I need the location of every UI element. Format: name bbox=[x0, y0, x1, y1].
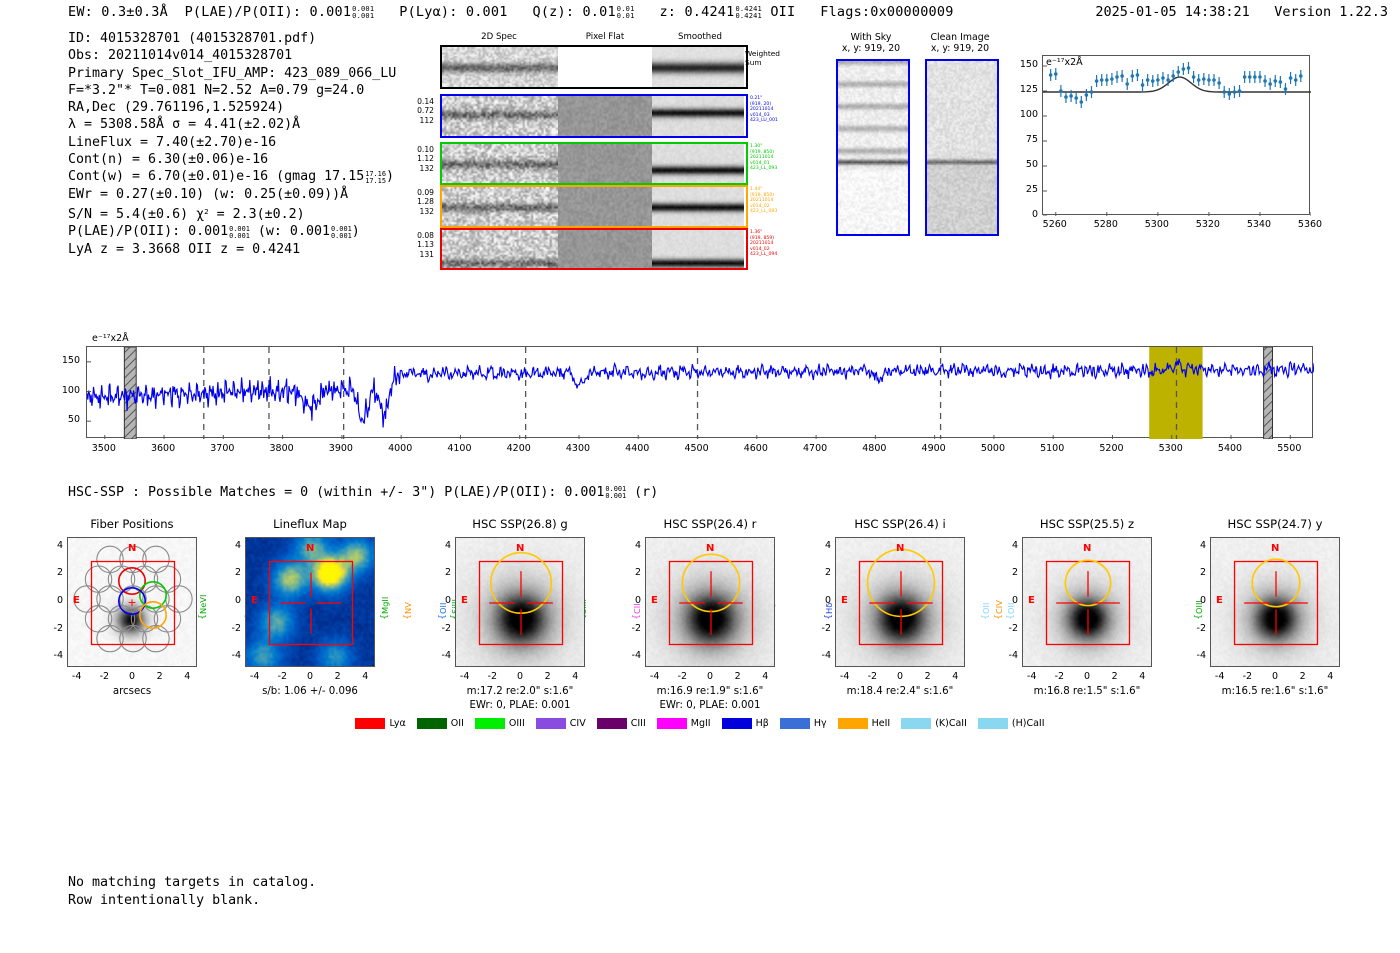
fiber-annotation: 1.30"(919, 850)20211014v014_01423_LL_093 bbox=[750, 144, 804, 172]
legend-swatch bbox=[475, 718, 505, 729]
spec2d-col-2dspec: 2D Spec bbox=[440, 32, 558, 42]
panel-xlabel: m:16.9 re:1.9" s:1.6" bbox=[610, 686, 810, 697]
panel-image-hsc-i[interactable] bbox=[835, 537, 965, 667]
fiber-2dspec bbox=[442, 187, 558, 226]
fiber-metric-value: 0.72 bbox=[404, 106, 434, 115]
fiber-smoothed bbox=[652, 144, 744, 183]
fullspec-xtick: 4800 bbox=[852, 443, 896, 454]
panel-xtick: 0 bbox=[696, 671, 724, 682]
fiber-metric-value: 0.14 bbox=[404, 97, 434, 106]
zoomspec-flux-unit: e⁻¹⁷x2Å bbox=[1046, 57, 1083, 68]
fiber-metrics: 0.140.72112 bbox=[404, 97, 434, 125]
zoomspec-ytick: 100 bbox=[1010, 109, 1038, 120]
panel-ytick: 4 bbox=[431, 540, 451, 551]
panel-xlabel: m:16.5 re:1.6" s:1.6" bbox=[1175, 686, 1375, 697]
panel-ytick: -4 bbox=[221, 650, 241, 661]
emission-line-label: NeVI bbox=[198, 576, 208, 614]
fiber-metric-value: 0.09 bbox=[404, 188, 434, 197]
compass-east: E bbox=[1216, 595, 1223, 606]
param-sn-text: S/N = 5.4(±0.6) χ bbox=[68, 207, 204, 222]
emission-line-label: OII bbox=[981, 576, 991, 614]
compass-north: N bbox=[896, 543, 904, 554]
zoomspec-xtick: 5300 bbox=[1141, 219, 1173, 230]
panel-ytick: 2 bbox=[998, 567, 1018, 578]
panel-ytick: -2 bbox=[221, 623, 241, 634]
panel-xtick: -4 bbox=[1206, 671, 1234, 682]
param-plae-range: 0.0010.001 bbox=[229, 226, 250, 240]
panel-xtick: 0 bbox=[506, 671, 534, 682]
header-z-range: 0.42410.4241 bbox=[735, 5, 762, 19]
fiber-metric-value: 1.28 bbox=[404, 197, 434, 206]
legend-label: Hβ bbox=[756, 718, 769, 729]
spec2d-fiber-row[interactable] bbox=[440, 185, 748, 228]
fiber-pixelflat bbox=[558, 230, 652, 268]
panel-xtick: -4 bbox=[831, 671, 859, 682]
panel-ytick: 0 bbox=[811, 595, 831, 606]
fiber-annotation: 0.21"(919, 20)20211014v014_03423_LU_001 bbox=[750, 96, 804, 124]
fullspec-xtick: 3500 bbox=[82, 443, 126, 454]
panel-xtick: 4 bbox=[941, 671, 969, 682]
panel-title: HSC SSP(26.8) g bbox=[420, 517, 620, 531]
legend-label: Lyα bbox=[389, 718, 405, 729]
panel-xtick: 2 bbox=[324, 671, 352, 682]
panel-xtick: 4 bbox=[751, 671, 779, 682]
header-z-label: z: bbox=[659, 4, 676, 20]
cutout-image[interactable] bbox=[925, 59, 999, 236]
panel-ytick: 0 bbox=[621, 595, 641, 606]
zoomspec-xtick: 5280 bbox=[1090, 219, 1122, 230]
header-timestamp-version: 2025-01-05 14:38:21 Version 1.22.3 bbox=[1095, 4, 1388, 20]
param-redshifts: LyA z = 3.3668 OII z = 0.4241 bbox=[68, 241, 396, 258]
panel-xtick: 2 bbox=[1289, 671, 1317, 682]
panel-xtick: -2 bbox=[90, 671, 118, 682]
param-sn-chi2: S/N = 5.4(±0.6) χ2 = 2.3(±0.2) bbox=[68, 203, 396, 223]
fiber-metric-value: 0.10 bbox=[404, 145, 434, 154]
legend-swatch bbox=[536, 718, 566, 729]
fiber-metrics: 0.101.12132 bbox=[404, 145, 434, 173]
panel-xtick: 2 bbox=[1101, 671, 1129, 682]
panel-sublabel: EWr: 0, PLAE: 0.001 bbox=[420, 700, 620, 711]
emission-line-brace: { bbox=[632, 614, 642, 620]
fiber-metrics: 0.081.13131 bbox=[404, 231, 434, 259]
zoomspec-ytick: 0 bbox=[1010, 209, 1038, 220]
timestamp: 2025-01-05 14:38:21 bbox=[1095, 4, 1249, 20]
fullspec-xtick: 4200 bbox=[497, 443, 541, 454]
fullspec-xtick: 3800 bbox=[260, 443, 304, 454]
legend-item: Hγ bbox=[780, 718, 827, 729]
panel-title: HSC SSP(24.7) y bbox=[1175, 517, 1375, 531]
fiber-annotation: 1.36"(919, 859)20211014v014_02423_LL_094 bbox=[750, 230, 804, 258]
panel-xtick: 0 bbox=[118, 671, 146, 682]
panel-ytick: 4 bbox=[811, 540, 831, 551]
weighted-sum-line2: Sum bbox=[745, 58, 801, 67]
panel-ytick: 0 bbox=[431, 595, 451, 606]
panel-xlabel: m:16.8 re:1.5" s:1.6" bbox=[987, 686, 1187, 697]
compass-north: N bbox=[1271, 543, 1279, 554]
fullspec-xtick: 4000 bbox=[378, 443, 422, 454]
zoomspec-xtick: 5340 bbox=[1243, 219, 1275, 230]
svg-text:+: + bbox=[127, 596, 136, 609]
legend-item: Lyα bbox=[355, 718, 405, 729]
header-z-species: OII bbox=[770, 4, 795, 20]
legend-swatch bbox=[657, 718, 687, 729]
zoomspec-ytick: 125 bbox=[1010, 84, 1038, 95]
footer-line-1: No matching targets in catalog. bbox=[68, 874, 316, 892]
weighted-sum-smoothed bbox=[652, 47, 744, 87]
spec2d-mosaic: 2D Spec Pixel Flat Smoothed Weighted Sum… bbox=[440, 32, 800, 252]
fullspec-ytick: 50 bbox=[48, 414, 80, 425]
panel-xtick: 2 bbox=[146, 671, 174, 682]
param-lambda-sigma: λ = 5308.58Å σ = 4.41(±2.02)Å bbox=[68, 116, 396, 133]
fullspec-xtick: 4500 bbox=[675, 443, 719, 454]
fiber-metric-value: 131 bbox=[404, 250, 434, 259]
header-ew: EW: 0.3±0.3Å bbox=[68, 4, 168, 20]
panel-xlabel: s/b: 1.06 +/- 0.096 bbox=[210, 686, 410, 697]
panel-ytick: -4 bbox=[621, 650, 641, 661]
zoomspec-xtick: 5260 bbox=[1039, 219, 1071, 230]
panel-ytick: 2 bbox=[221, 567, 241, 578]
fullspec-ytick: 100 bbox=[48, 385, 80, 396]
fiber-smoothed bbox=[652, 187, 744, 226]
panel-ytick: -2 bbox=[811, 623, 831, 634]
param-continuum-wide-text: Cont(w) = 6.70(±0.01)e-16 (gmag 17.15 bbox=[68, 169, 364, 184]
compass-north: N bbox=[516, 543, 524, 554]
zoomspec-ytick: 25 bbox=[1010, 184, 1038, 195]
header-qz-label: Q(z): bbox=[533, 4, 575, 20]
fiber-pixelflat bbox=[558, 144, 652, 183]
panel-ytick: 2 bbox=[431, 567, 451, 578]
legend-swatch bbox=[901, 718, 931, 729]
panel-ytick: 0 bbox=[43, 595, 63, 606]
legend-label: OIII bbox=[509, 718, 525, 729]
weighted-sum-2dspec bbox=[442, 47, 558, 87]
zoomspec-ytick: 150 bbox=[1010, 59, 1038, 70]
legend-item: (K)CaII bbox=[901, 718, 967, 729]
fullspec-xtick: 4900 bbox=[912, 443, 956, 454]
param-plae-wide-range: 0.0010.001 bbox=[331, 226, 352, 240]
parameter-block: ID: 4015328701 (4015328701.pdf) Obs: 202… bbox=[68, 30, 396, 258]
panel-image-hsc-z[interactable] bbox=[1022, 537, 1152, 667]
hsc-summary-filter: (r) bbox=[626, 485, 658, 500]
spec2d-fiber-row[interactable] bbox=[440, 228, 748, 270]
zoomspec-ytick: 50 bbox=[1010, 159, 1038, 170]
panel-ytick: -4 bbox=[1186, 650, 1206, 661]
panel-xtick: 0 bbox=[886, 671, 914, 682]
cutout-image[interactable] bbox=[836, 59, 910, 236]
param-seeing: F=*3.2"* T=0.081 N=2.52 A=0.79 g=24.0 bbox=[68, 82, 396, 99]
panel-xtick: -2 bbox=[858, 671, 886, 682]
panel-ytick: -2 bbox=[431, 623, 451, 634]
header-qz-range: 0.010.01 bbox=[617, 5, 635, 19]
legend-swatch bbox=[780, 718, 810, 729]
legend-item: MgII bbox=[657, 718, 711, 729]
panel-ytick: 0 bbox=[221, 595, 241, 606]
fiber-metrics: 0.091.28132 bbox=[404, 188, 434, 216]
fiber-metric-value: 0.08 bbox=[404, 231, 434, 240]
compass-east: E bbox=[651, 595, 658, 606]
panel-xtick: -4 bbox=[1018, 671, 1046, 682]
param-plae-text: P(LAE)/P(OII): 0.001 bbox=[68, 224, 228, 239]
header-plae-value: 0.001 bbox=[310, 4, 352, 20]
panel-ytick: 2 bbox=[43, 567, 63, 578]
panel-xtick: 2 bbox=[724, 671, 752, 682]
emission-line-label: NV bbox=[403, 576, 413, 614]
panel-title: Lineflux Map bbox=[210, 517, 410, 531]
header-summary: EW: 0.3±0.3Å P(LAE)/P(OII): 0.0010.0010.… bbox=[68, 4, 954, 20]
panel-ytick: -4 bbox=[998, 650, 1018, 661]
fiber-annotation: 1.44"(919, 850)20211014v014_02423_LL_093 bbox=[750, 187, 804, 215]
panel-ytick: 2 bbox=[1186, 567, 1206, 578]
fiber-smoothed bbox=[652, 230, 744, 268]
param-id: ID: 4015328701 (4015328701.pdf) bbox=[68, 30, 396, 47]
emission-line-brace: { bbox=[198, 614, 208, 620]
param-continuum-wide: Cont(w) = 6.70(±0.01)e-16 (gmag 17.1517.… bbox=[68, 168, 396, 185]
panel-xtick: 4 bbox=[561, 671, 589, 682]
cutout-title: Clean Imagex, y: 919, 20 bbox=[895, 32, 1025, 54]
panel-xtick: -4 bbox=[63, 671, 91, 682]
panel-xtick: -4 bbox=[641, 671, 669, 682]
zoomspec-ytick: 75 bbox=[1010, 134, 1038, 145]
emission-line-label: MgII bbox=[380, 576, 390, 614]
legend-label: OII bbox=[451, 718, 464, 729]
fiber-2dspec bbox=[442, 230, 558, 268]
header-qz-value: 0.01 bbox=[582, 4, 615, 20]
fiber-annotation-line: 423_LU_001 bbox=[750, 118, 804, 124]
footer-note: No matching targets in catalog. Row inte… bbox=[68, 874, 316, 910]
header-plae-label: P(LAE)/P(OII): bbox=[185, 4, 302, 20]
param-radec: RA,Dec (29.761196,1.525924) bbox=[68, 99, 396, 116]
legend-swatch bbox=[417, 718, 447, 729]
full-spectrum-panel: LyαOIIOIIICIVCIIIMgIIHβHγHeII(K)CaII(H)C… bbox=[0, 268, 1400, 473]
legend-label: HeII bbox=[872, 718, 891, 729]
emission-line-brace: { bbox=[1006, 614, 1016, 620]
full-spectrum-axes[interactable] bbox=[86, 346, 1313, 438]
panel-xtick: 0 bbox=[1261, 671, 1289, 682]
param-plae-line: P(LAE)/P(OII): 0.0010.0010.001 (w: 0.001… bbox=[68, 223, 396, 240]
panel-sublabel: EWr: 0, PLAE: 0.001 bbox=[610, 700, 810, 711]
emission-line-brace: { bbox=[1194, 614, 1204, 620]
panel-ytick: 0 bbox=[1186, 595, 1206, 606]
fullspec-xtick: 4300 bbox=[556, 443, 600, 454]
compass-east: E bbox=[1028, 595, 1035, 606]
panel-xtick: 2 bbox=[914, 671, 942, 682]
panel-title: HSC SSP(26.4) i bbox=[800, 517, 1000, 531]
header-flags: Flags:0x00000009 bbox=[820, 4, 953, 20]
panel-ytick: 0 bbox=[998, 595, 1018, 606]
panel-ytick: 4 bbox=[43, 540, 63, 551]
param-continuum-narrow: Cont(n) = 6.30(±0.06)e-16 bbox=[68, 151, 396, 168]
panel-xtick: -4 bbox=[241, 671, 269, 682]
legend-swatch bbox=[838, 718, 868, 729]
panel-xtick: 2 bbox=[534, 671, 562, 682]
legend-swatch bbox=[355, 718, 385, 729]
panel-xtick: 4 bbox=[1128, 671, 1156, 682]
panel-ytick: -2 bbox=[998, 623, 1018, 634]
compass-north: N bbox=[306, 543, 314, 554]
fiber-2dspec bbox=[442, 96, 558, 136]
legend-item: CIII bbox=[597, 718, 646, 729]
cutout-title-text: Clean Image bbox=[895, 32, 1025, 43]
compass-east: E bbox=[841, 595, 848, 606]
panel-ytick: 2 bbox=[811, 567, 831, 578]
spec2d-weighted-sum-row[interactable] bbox=[440, 45, 748, 89]
version-label: Version 1.22.3 bbox=[1274, 4, 1388, 20]
emission-line-brace: { bbox=[380, 614, 390, 620]
legend-swatch bbox=[597, 718, 627, 729]
panel-ytick: 2 bbox=[621, 567, 641, 578]
param-ewr: EWr = 0.27(±0.10) (w: 0.25(±0.09))Å bbox=[68, 186, 396, 203]
panel-xtick: 0 bbox=[296, 671, 324, 682]
legend-item: OIII bbox=[475, 718, 525, 729]
panel-xlabel: arcsecs bbox=[32, 686, 232, 697]
panel-title: HSC SSP(26.4) r bbox=[610, 517, 810, 531]
param-lineflux: LineFlux = 7.40(±2.70)e-16 bbox=[68, 134, 396, 151]
zoomspec-xtick: 5320 bbox=[1192, 219, 1224, 230]
emission-line-brace: { bbox=[403, 614, 413, 620]
fullspec-xtick: 4600 bbox=[734, 443, 778, 454]
panel-xtick: -2 bbox=[1233, 671, 1261, 682]
compass-north: N bbox=[128, 543, 136, 554]
emission-line-brace: { bbox=[438, 614, 448, 620]
param-obs: Obs: 20211014v014_4015328701 bbox=[68, 47, 396, 64]
panel-image-hsc-r[interactable] bbox=[645, 537, 775, 667]
fiber-pixelflat bbox=[558, 96, 652, 136]
legend-item: Hβ bbox=[722, 718, 769, 729]
panel-image-hsc-y[interactable] bbox=[1210, 537, 1340, 667]
fullspec-xtick: 5000 bbox=[971, 443, 1015, 454]
header-plya-label: P(Lyα): bbox=[399, 4, 457, 20]
panel-ytick: -4 bbox=[431, 650, 451, 661]
fullspec-xtick: 3600 bbox=[141, 443, 185, 454]
panel-xtick: 4 bbox=[1316, 671, 1344, 682]
compass-east: E bbox=[73, 595, 80, 606]
header-plae-range: 0.0010.001 bbox=[352, 5, 374, 19]
panel-xlabel: m:17.2 re:2.0" s:1.6" bbox=[420, 686, 620, 697]
panel-xtick: -4 bbox=[451, 671, 479, 682]
spec2d-col-pixelflat: Pixel Flat bbox=[558, 32, 652, 42]
legend-item: HeII bbox=[838, 718, 891, 729]
panel-ytick: 4 bbox=[1186, 540, 1206, 551]
hsc-plae-range: 0.0010.001 bbox=[605, 486, 626, 500]
legend-item: (H)CaII bbox=[978, 718, 1045, 729]
panel-image-hsc-g[interactable] bbox=[455, 537, 585, 667]
panel-ytick: 4 bbox=[221, 540, 241, 551]
panel-xtick: -2 bbox=[668, 671, 696, 682]
fullspec-xtick: 4700 bbox=[793, 443, 837, 454]
zoomspec-xtick: 5360 bbox=[1294, 219, 1326, 230]
hsc-summary-text: HSC-SSP : Possible Matches = 0 (within +… bbox=[68, 485, 604, 500]
panel-ytick: -2 bbox=[43, 623, 63, 634]
footer-line-2: Row intentionally blank. bbox=[68, 892, 316, 910]
emission-line-brace: { bbox=[994, 614, 1004, 620]
panel-title: Fiber Positions bbox=[32, 517, 232, 531]
param-gmag-range: 17.1617.15 bbox=[365, 171, 386, 185]
panel-ytick: -4 bbox=[811, 650, 831, 661]
weighted-sum-pixelflat bbox=[558, 47, 652, 87]
panel-xlabel: m:18.4 re:2.4" s:1.6" bbox=[800, 686, 1000, 697]
panel-xtick: -2 bbox=[1045, 671, 1073, 682]
header-plya-value: 0.001 bbox=[466, 4, 508, 20]
fullspec-xtick: 4100 bbox=[437, 443, 481, 454]
param-primary-slot: Primary Spec_Slot_IFU_AMP: 423_089_066_L… bbox=[68, 65, 396, 82]
legend-swatch bbox=[722, 718, 752, 729]
emission-line-brace: { bbox=[824, 614, 834, 620]
panel-xtick: -2 bbox=[268, 671, 296, 682]
compass-east: E bbox=[251, 595, 258, 606]
panel-title: HSC SSP(25.5) z bbox=[987, 517, 1187, 531]
spec2d-fiber-row[interactable] bbox=[440, 94, 748, 138]
fullspec-xtick: 5100 bbox=[1030, 443, 1074, 454]
fullspec-flux-unit: e⁻¹⁷x2Å bbox=[92, 333, 129, 344]
param-plae-close: ) bbox=[352, 224, 360, 239]
weighted-sum-line1: Weighted bbox=[745, 49, 801, 58]
fullspec-xtick: 5300 bbox=[1149, 443, 1193, 454]
fiber-2dspec bbox=[442, 144, 558, 183]
legend-swatch bbox=[978, 718, 1008, 729]
fullspec-xtick: 5500 bbox=[1267, 443, 1311, 454]
panel-image-lineflux-map[interactable] bbox=[245, 537, 375, 667]
legend-item: OII bbox=[417, 718, 464, 729]
spec2d-fiber-row[interactable] bbox=[440, 142, 748, 185]
panel-ytick: 4 bbox=[998, 540, 1018, 551]
fiber-smoothed bbox=[652, 96, 744, 136]
fiber-metric-value: 1.13 bbox=[404, 240, 434, 249]
panel-xtick: -2 bbox=[478, 671, 506, 682]
spec2d-col-smoothed: Smoothed bbox=[652, 32, 748, 42]
hsc-summary: HSC-SSP : Possible Matches = 0 (within +… bbox=[68, 485, 658, 500]
param-chi2-value: = 2.3(±0.2) bbox=[209, 207, 305, 222]
spectrum-legend: LyαOIIOIIICIVCIIIMgIIHβHγHeII(K)CaII(H)C… bbox=[0, 718, 1400, 729]
fiber-pixelflat bbox=[558, 187, 652, 226]
fiber-annotation-line: 423_LL_094 bbox=[750, 252, 804, 258]
panel-image-fiber-positions[interactable]: + bbox=[67, 537, 197, 667]
param-continuum-wide-close: ) bbox=[386, 169, 394, 184]
compass-east: E bbox=[461, 595, 468, 606]
panel-xtick: 4 bbox=[351, 671, 379, 682]
fiber-annotation-line: 423_LL_093 bbox=[750, 209, 804, 215]
legend-label: MgII bbox=[691, 718, 711, 729]
legend-label: CIII bbox=[631, 718, 646, 729]
spec2d-weighted-sum-label: Weighted Sum bbox=[745, 49, 801, 67]
fiber-annotation-line: 423_LL_093 bbox=[750, 166, 804, 172]
legend-label: (H)CaII bbox=[1012, 718, 1045, 729]
emission-line-brace: { bbox=[981, 614, 991, 620]
legend-label: Hγ bbox=[814, 718, 827, 729]
fullspec-xtick: 3700 bbox=[200, 443, 244, 454]
panel-xtick: 0 bbox=[1073, 671, 1101, 682]
legend-label: CIV bbox=[570, 718, 586, 729]
fiber-metric-value: 132 bbox=[404, 207, 434, 216]
zoom-spectrum-axes[interactable] bbox=[1042, 55, 1310, 215]
fullspec-xtick: 5200 bbox=[1089, 443, 1133, 454]
panel-ytick: -2 bbox=[621, 623, 641, 634]
panel-ytick: -2 bbox=[1186, 623, 1206, 634]
header-z-value: 0.4241 bbox=[684, 4, 734, 20]
cutout-coords: x, y: 919, 20 bbox=[895, 43, 1025, 54]
compass-north: N bbox=[706, 543, 714, 554]
fiber-metric-value: 132 bbox=[404, 164, 434, 173]
fullspec-xtick: 5400 bbox=[1208, 443, 1252, 454]
legend-label: (K)CaII bbox=[935, 718, 967, 729]
fullspec-xtick: 3900 bbox=[319, 443, 363, 454]
fiber-metric-value: 112 bbox=[404, 116, 434, 125]
compass-north: N bbox=[1083, 543, 1091, 554]
panel-ytick: -4 bbox=[43, 650, 63, 661]
param-plae-wide-text: (w: 0.001 bbox=[250, 224, 330, 239]
panel-xtick: 4 bbox=[173, 671, 201, 682]
panel-ytick: 4 bbox=[621, 540, 641, 551]
fiber-metric-value: 1.12 bbox=[404, 154, 434, 163]
